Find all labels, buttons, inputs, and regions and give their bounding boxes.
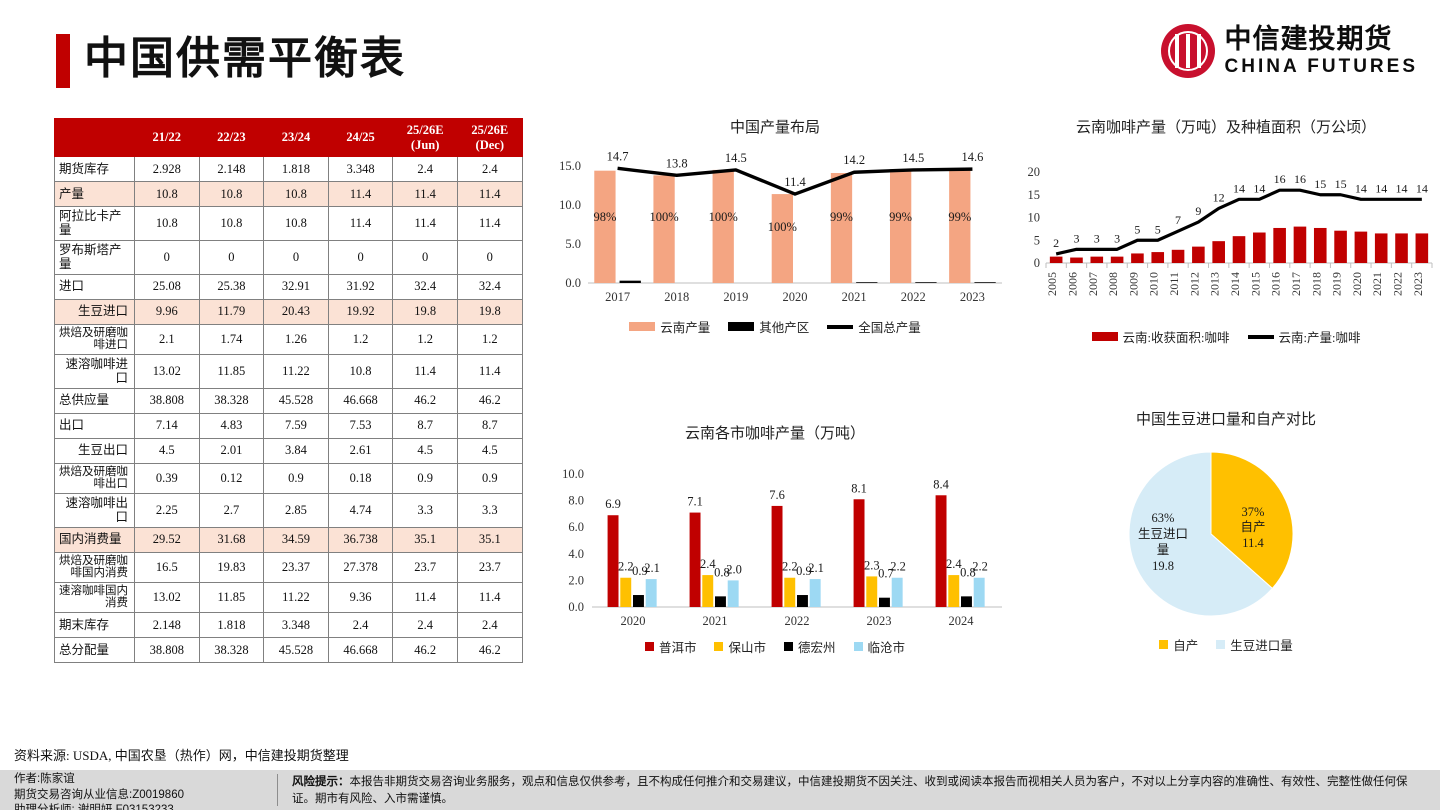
legend-item-imported: 生豆进口量 bbox=[1216, 635, 1293, 654]
legend-item-other-regions: 其他产区 bbox=[728, 317, 809, 336]
svg-text:2023: 2023 bbox=[1411, 272, 1425, 296]
table-cell: 46.2 bbox=[393, 388, 458, 413]
chart3-plot: 0.02.04.06.08.010.06.92.20.92.120207.12.… bbox=[536, 448, 1014, 633]
table-cell: 10.8 bbox=[135, 182, 200, 207]
svg-text:2008: 2008 bbox=[1106, 272, 1120, 296]
legend-swatch-icon bbox=[645, 642, 654, 651]
table-row: 速溶咖啡出口2.252.72.854.743.33.3 bbox=[55, 493, 523, 527]
company-logo: 中信建投期货 CHINA FUTURES bbox=[1161, 24, 1418, 78]
chart3-title: 云南各市咖啡产量（万吨） bbox=[536, 424, 1014, 444]
table-cell: 8.7 bbox=[457, 413, 522, 438]
table-cell: 7.14 bbox=[135, 413, 200, 438]
svg-text:14: 14 bbox=[1355, 182, 1367, 196]
row-label: 烘焙及研磨咖啡进口 bbox=[55, 324, 135, 354]
svg-text:2017: 2017 bbox=[1289, 272, 1303, 296]
col-header-4: 25/26E(Jun) bbox=[393, 119, 458, 157]
table-cell: 0.9 bbox=[393, 463, 458, 493]
svg-text:7: 7 bbox=[1175, 213, 1181, 227]
footer-bar: 作者:陈家谊 期货交易咨询从业信息:Z0019860 助理分析师: 谢明妍 F0… bbox=[0, 770, 1440, 810]
table-cell: 13.02 bbox=[135, 354, 200, 388]
table-cell: 31.68 bbox=[199, 527, 264, 552]
svg-text:4.0: 4.0 bbox=[568, 547, 584, 561]
table-cell: 19.92 bbox=[328, 299, 393, 324]
svg-text:2021: 2021 bbox=[1370, 272, 1384, 296]
svg-text:2009: 2009 bbox=[1126, 272, 1140, 296]
svg-text:2015: 2015 bbox=[1248, 272, 1262, 296]
row-label: 生豆出口 bbox=[55, 438, 135, 463]
table-cell: 11.4 bbox=[457, 207, 522, 241]
table-cell: 0 bbox=[328, 240, 393, 274]
svg-text:2021: 2021 bbox=[842, 290, 867, 304]
svg-text:10.0: 10.0 bbox=[562, 467, 584, 481]
legend-label: 保山市 bbox=[728, 637, 766, 656]
svg-text:量: 量 bbox=[1157, 543, 1170, 557]
table-cell: 29.52 bbox=[135, 527, 200, 552]
table-cell: 0 bbox=[135, 240, 200, 274]
table-row: 烘焙及研磨咖啡国内消费16.519.8323.3727.37823.723.7 bbox=[55, 552, 523, 582]
table-cell: 9.96 bbox=[135, 299, 200, 324]
table-cell: 0 bbox=[393, 240, 458, 274]
row-label: 罗布斯塔产量 bbox=[55, 240, 135, 274]
table-cell: 11.4 bbox=[457, 582, 522, 612]
svg-text:2022: 2022 bbox=[785, 614, 810, 628]
slide-page: 中国供需平衡表 中信建投期货 CHINA FUTURES 21/22 22/23… bbox=[0, 0, 1440, 810]
table-cell: 2.7 bbox=[199, 493, 264, 527]
svg-text:6.0: 6.0 bbox=[568, 520, 584, 534]
svg-text:14: 14 bbox=[1375, 182, 1387, 196]
svg-text:2.2: 2.2 bbox=[972, 560, 988, 574]
table-cell: 23.7 bbox=[393, 552, 458, 582]
svg-text:19.8: 19.8 bbox=[1152, 559, 1174, 573]
legend-label: 自产 bbox=[1173, 635, 1198, 654]
table-cell: 27.378 bbox=[328, 552, 393, 582]
table-cell: 1.2 bbox=[457, 324, 522, 354]
svg-text:20: 20 bbox=[1028, 165, 1041, 179]
svg-text:2018: 2018 bbox=[1309, 272, 1323, 296]
table-cell: 38.808 bbox=[135, 388, 200, 413]
table-cell: 3.348 bbox=[264, 613, 329, 638]
svg-text:100%: 100% bbox=[709, 210, 738, 224]
table-cell: 4.74 bbox=[328, 493, 393, 527]
svg-text:2024: 2024 bbox=[949, 614, 975, 628]
logo-chinese-name: 中信建投期货 bbox=[1225, 26, 1418, 53]
table-cell: 2.85 bbox=[264, 493, 329, 527]
chart2-legend: 云南:收获面积:咖啡 云南:产量:咖啡 bbox=[1016, 327, 1436, 346]
legend-swatch-icon bbox=[784, 642, 793, 651]
table-cell: 13.02 bbox=[135, 582, 200, 612]
row-label: 速溶咖啡国内消费 bbox=[55, 582, 135, 612]
svg-text:14: 14 bbox=[1396, 182, 1408, 196]
svg-text:11.4: 11.4 bbox=[784, 175, 806, 189]
chart4-svg: 37%自产11.463%生豆进口量19.8 bbox=[1016, 438, 1436, 633]
table-body: 期货库存2.9282.1481.8183.3482.42.4产量10.810.8… bbox=[55, 157, 523, 663]
table-cell: 19.8 bbox=[393, 299, 458, 324]
legend-item-harvest-area: 云南:收获面积:咖啡 bbox=[1092, 327, 1230, 346]
svg-text:15: 15 bbox=[1335, 177, 1347, 191]
legend-line-icon bbox=[827, 325, 853, 329]
legend-item-dehong: 德宏州 bbox=[784, 637, 836, 656]
svg-text:2023: 2023 bbox=[960, 290, 985, 304]
legend-swatch-icon bbox=[714, 642, 723, 651]
legend-swatch-icon bbox=[629, 322, 655, 331]
table-row: 总供应量38.80838.32845.52846.66846.246.2 bbox=[55, 388, 523, 413]
legend-item-lincang: 临沧市 bbox=[854, 637, 906, 656]
table-cell: 2.61 bbox=[328, 438, 393, 463]
svg-text:99%: 99% bbox=[948, 210, 971, 224]
table-cell: 31.92 bbox=[328, 274, 393, 299]
svg-text:自产: 自产 bbox=[1240, 520, 1265, 534]
page-title: 中国供需平衡表 bbox=[84, 30, 406, 88]
table-cell: 46.668 bbox=[328, 388, 393, 413]
svg-text:8.0: 8.0 bbox=[568, 494, 584, 508]
table-row: 速溶咖啡进口13.0211.8511.2210.811.411.4 bbox=[55, 354, 523, 388]
svg-text:99%: 99% bbox=[830, 210, 853, 224]
table-cell: 7.59 bbox=[264, 413, 329, 438]
table-cell: 36.738 bbox=[328, 527, 393, 552]
logo-text: 中信建投期货 CHINA FUTURES bbox=[1225, 26, 1418, 76]
table-cell: 3.84 bbox=[264, 438, 329, 463]
table-cell: 35.1 bbox=[457, 527, 522, 552]
supply-demand-table-wrap: 21/22 22/23 23/24 24/25 25/26E(Jun) 25/2… bbox=[54, 118, 522, 663]
table-cell: 0.9 bbox=[457, 463, 522, 493]
row-label: 速溶咖啡进口 bbox=[55, 354, 135, 388]
row-label: 国内消费量 bbox=[55, 527, 135, 552]
assistant-analyst: 助理分析师: 谢明妍 F03153233 bbox=[14, 803, 184, 810]
legend-label: 全国总产量 bbox=[858, 317, 921, 336]
svg-text:5: 5 bbox=[1134, 223, 1140, 237]
title-accent-bar bbox=[56, 34, 70, 88]
citic-logo-icon bbox=[1161, 24, 1215, 78]
table-head: 21/22 22/23 23/24 24/25 25/26E(Jun) 25/2… bbox=[55, 119, 523, 157]
svg-text:2023: 2023 bbox=[867, 614, 892, 628]
table-cell: 32.91 bbox=[264, 274, 329, 299]
table-cell: 19.83 bbox=[199, 552, 264, 582]
table-corner-cell bbox=[55, 119, 135, 157]
svg-text:8.4: 8.4 bbox=[933, 478, 949, 492]
col-header-2: 23/24 bbox=[264, 119, 329, 157]
table-cell: 46.2 bbox=[457, 388, 522, 413]
table-cell: 4.5 bbox=[393, 438, 458, 463]
svg-text:0: 0 bbox=[1034, 256, 1040, 270]
svg-text:2.1: 2.1 bbox=[644, 561, 660, 575]
table-cell: 4.5 bbox=[457, 438, 522, 463]
table-cell: 9.36 bbox=[328, 582, 393, 612]
table-cell: 20.43 bbox=[264, 299, 329, 324]
svg-text:2022: 2022 bbox=[901, 290, 926, 304]
legend-item-national-total: 全国总产量 bbox=[827, 317, 921, 336]
svg-text:63%: 63% bbox=[1152, 511, 1175, 525]
row-label: 阿拉比卡产量 bbox=[55, 207, 135, 241]
legend-line-icon bbox=[1248, 335, 1274, 339]
svg-text:2.2: 2.2 bbox=[890, 560, 906, 574]
table-cell: 32.4 bbox=[393, 274, 458, 299]
svg-text:9: 9 bbox=[1195, 204, 1201, 218]
svg-text:14.2: 14.2 bbox=[843, 153, 865, 167]
svg-text:2011: 2011 bbox=[1167, 272, 1181, 296]
svg-text:2021: 2021 bbox=[703, 614, 728, 628]
svg-text:2014: 2014 bbox=[1228, 272, 1242, 296]
table-cell: 11.22 bbox=[264, 354, 329, 388]
table-cell: 45.528 bbox=[264, 638, 329, 663]
table-row: 出口7.144.837.597.538.78.7 bbox=[55, 413, 523, 438]
table-cell: 11.79 bbox=[199, 299, 264, 324]
svg-text:10: 10 bbox=[1028, 211, 1041, 225]
legend-label: 临沧市 bbox=[868, 637, 906, 656]
table-cell: 32.4 bbox=[457, 274, 522, 299]
svg-text:2013: 2013 bbox=[1208, 272, 1222, 296]
source-note: 资料来源: USDA, 中国农垦（热作）网，中信建投期货整理 bbox=[14, 745, 349, 764]
table-cell: 1.74 bbox=[199, 324, 264, 354]
svg-text:2018: 2018 bbox=[664, 290, 689, 304]
table-cell: 0 bbox=[264, 240, 329, 274]
row-label: 生豆进口 bbox=[55, 299, 135, 324]
svg-text:5.0: 5.0 bbox=[565, 237, 581, 251]
table-cell: 23.37 bbox=[264, 552, 329, 582]
table-row: 生豆出口4.52.013.842.614.54.5 bbox=[55, 438, 523, 463]
svg-text:2: 2 bbox=[1053, 236, 1059, 250]
table-cell: 2.4 bbox=[328, 613, 393, 638]
table-cell: 1.818 bbox=[199, 613, 264, 638]
row-label: 烘焙及研磨咖啡出口 bbox=[55, 463, 135, 493]
svg-text:100%: 100% bbox=[649, 210, 678, 224]
table-cell: 2.4 bbox=[457, 157, 522, 182]
supply-demand-table: 21/22 22/23 23/24 24/25 25/26E(Jun) 25/2… bbox=[54, 118, 523, 663]
table-row: 罗布斯塔产量000000 bbox=[55, 240, 523, 274]
table-cell: 0 bbox=[199, 240, 264, 274]
legend-label: 德宏州 bbox=[798, 637, 836, 656]
table-row: 产量10.810.810.811.411.411.4 bbox=[55, 182, 523, 207]
chart4-title: 中国生豆进口量和自产对比 bbox=[1016, 410, 1436, 430]
legend-item-yunnan-output: 云南产量 bbox=[629, 317, 710, 336]
row-label: 产量 bbox=[55, 182, 135, 207]
table-cell: 38.328 bbox=[199, 388, 264, 413]
table-cell: 2.148 bbox=[135, 613, 200, 638]
author-name: 作者:陈家谊 bbox=[14, 772, 184, 788]
footer-divider bbox=[277, 774, 278, 806]
table-cell: 2.4 bbox=[393, 613, 458, 638]
table-cell: 16.5 bbox=[135, 552, 200, 582]
table-cell: 0.39 bbox=[135, 463, 200, 493]
svg-text:100%: 100% bbox=[768, 220, 797, 234]
table-cell: 2.4 bbox=[393, 157, 458, 182]
table-cell: 1.26 bbox=[264, 324, 329, 354]
legend-swatch-icon bbox=[1159, 640, 1168, 649]
row-label: 期货库存 bbox=[55, 157, 135, 182]
table-cell: 38.328 bbox=[199, 638, 264, 663]
table-cell: 11.85 bbox=[199, 354, 264, 388]
chart1-legend: 云南产量 其他产区 全国总产量 bbox=[536, 317, 1014, 336]
svg-text:3: 3 bbox=[1094, 232, 1100, 246]
row-label: 总分配量 bbox=[55, 638, 135, 663]
table-cell: 0.18 bbox=[328, 463, 393, 493]
risk-label: 风险提示： bbox=[292, 776, 350, 788]
table-cell: 2.928 bbox=[135, 157, 200, 182]
chart-china-production-layout: 中国产量布局 0.05.010.015.098%2017100%2018100%… bbox=[536, 118, 1014, 353]
table-cell: 3.3 bbox=[457, 493, 522, 527]
legend-label: 云南产量 bbox=[660, 317, 710, 336]
svg-text:2012: 2012 bbox=[1187, 272, 1201, 296]
chart3-legend: 普洱市 保山市 德宏州 临沧市 bbox=[536, 637, 1014, 656]
table-cell: 10.8 bbox=[328, 354, 393, 388]
svg-text:14: 14 bbox=[1416, 182, 1428, 196]
svg-text:14.6: 14.6 bbox=[961, 150, 983, 164]
table-cell: 1.2 bbox=[393, 324, 458, 354]
svg-text:16: 16 bbox=[1294, 172, 1306, 186]
chart1-svg: 0.05.010.015.098%2017100%2018100%2019100… bbox=[536, 138, 1014, 313]
table-row: 阿拉比卡产量10.810.810.811.411.411.4 bbox=[55, 207, 523, 241]
table-cell: 0 bbox=[457, 240, 522, 274]
table-cell: 46.668 bbox=[328, 638, 393, 663]
svg-text:2006: 2006 bbox=[1065, 272, 1079, 296]
col-header-0: 21/22 bbox=[135, 119, 200, 157]
table-row: 速溶咖啡国内消费13.0211.8511.229.3611.411.4 bbox=[55, 582, 523, 612]
table-row: 烘焙及研磨咖啡出口0.390.120.90.180.90.9 bbox=[55, 463, 523, 493]
svg-text:2.0: 2.0 bbox=[568, 574, 584, 588]
row-label: 进口 bbox=[55, 274, 135, 299]
table-cell: 34.59 bbox=[264, 527, 329, 552]
svg-text:5: 5 bbox=[1155, 223, 1161, 237]
table-cell: 2.148 bbox=[199, 157, 264, 182]
col-header-3: 24/25 bbox=[328, 119, 393, 157]
table-row: 生豆进口9.9611.7920.4319.9219.819.8 bbox=[55, 299, 523, 324]
row-label: 期末库存 bbox=[55, 613, 135, 638]
chart2-title: 云南咖啡产量（万吨）及种植面积（万公顷） bbox=[1016, 118, 1436, 138]
table-cell: 11.85 bbox=[199, 582, 264, 612]
legend-label: 普洱市 bbox=[659, 637, 697, 656]
author-block: 作者:陈家谊 期货交易咨询从业信息:Z0019860 助理分析师: 谢明妍 F0… bbox=[14, 772, 184, 810]
svg-text:2.1: 2.1 bbox=[808, 561, 824, 575]
table-cell: 35.1 bbox=[393, 527, 458, 552]
table-cell: 45.528 bbox=[264, 388, 329, 413]
svg-text:5: 5 bbox=[1034, 234, 1040, 248]
svg-text:2019: 2019 bbox=[723, 290, 748, 304]
table-cell: 11.4 bbox=[457, 354, 522, 388]
svg-text:0.0: 0.0 bbox=[568, 600, 584, 614]
legend-label: 其他产区 bbox=[759, 317, 809, 336]
svg-text:13.8: 13.8 bbox=[666, 157, 688, 171]
table-cell: 11.4 bbox=[393, 354, 458, 388]
table-cell: 19.8 bbox=[457, 299, 522, 324]
svg-text:14.5: 14.5 bbox=[725, 151, 747, 165]
table-cell: 25.08 bbox=[135, 274, 200, 299]
table-row: 期货库存2.9282.1481.8183.3482.42.4 bbox=[55, 157, 523, 182]
table-cell: 3.348 bbox=[328, 157, 393, 182]
table-cell: 46.2 bbox=[457, 638, 522, 663]
table-row: 总分配量38.80838.32845.52846.66846.246.2 bbox=[55, 638, 523, 663]
svg-text:2007: 2007 bbox=[1086, 272, 1100, 296]
svg-text:3: 3 bbox=[1073, 232, 1079, 246]
legend-label: 生豆进口量 bbox=[1230, 635, 1293, 654]
svg-text:2020: 2020 bbox=[783, 290, 808, 304]
chart4-legend: 自产 生豆进口量 bbox=[1016, 635, 1436, 654]
svg-text:14: 14 bbox=[1253, 182, 1265, 196]
svg-text:7.6: 7.6 bbox=[769, 488, 785, 502]
svg-text:15: 15 bbox=[1028, 188, 1041, 202]
chart1-title: 中国产量布局 bbox=[536, 118, 1014, 138]
svg-text:2010: 2010 bbox=[1147, 272, 1161, 296]
table-cell: 0.9 bbox=[264, 463, 329, 493]
legend-swatch-icon bbox=[1216, 640, 1225, 649]
legend-item-puer: 普洱市 bbox=[645, 637, 697, 656]
table-cell: 2.01 bbox=[199, 438, 264, 463]
svg-text:2005: 2005 bbox=[1045, 272, 1059, 296]
legend-item-domestic: 自产 bbox=[1159, 635, 1198, 654]
svg-text:14: 14 bbox=[1233, 182, 1245, 196]
svg-text:14.5: 14.5 bbox=[902, 151, 924, 165]
row-label: 出口 bbox=[55, 413, 135, 438]
svg-text:2.0: 2.0 bbox=[726, 563, 742, 577]
legend-label: 云南:产量:咖啡 bbox=[1279, 327, 1361, 346]
svg-text:2020: 2020 bbox=[621, 614, 646, 628]
table-cell: 1.2 bbox=[328, 324, 393, 354]
svg-text:2022: 2022 bbox=[1391, 272, 1405, 296]
table-cell: 2.1 bbox=[135, 324, 200, 354]
svg-text:2017: 2017 bbox=[605, 290, 630, 304]
table-cell: 11.4 bbox=[328, 182, 393, 207]
svg-text:0.0: 0.0 bbox=[565, 276, 581, 290]
svg-text:7.1: 7.1 bbox=[687, 495, 703, 509]
table-cell: 11.4 bbox=[393, 207, 458, 241]
col-header-5: 25/26E(Dec) bbox=[457, 119, 522, 157]
svg-text:2016: 2016 bbox=[1269, 272, 1283, 296]
svg-text:10.0: 10.0 bbox=[559, 198, 581, 212]
table-header-row: 21/22 22/23 23/24 24/25 25/26E(Jun) 25/2… bbox=[55, 119, 523, 157]
table-cell: 4.5 bbox=[135, 438, 200, 463]
table-row: 期末库存2.1481.8183.3482.42.42.4 bbox=[55, 613, 523, 638]
svg-text:16: 16 bbox=[1274, 172, 1286, 186]
legend-item-baoshan: 保山市 bbox=[714, 637, 766, 656]
table-cell: 11.22 bbox=[264, 582, 329, 612]
svg-text:12: 12 bbox=[1213, 191, 1225, 205]
chart2-svg: 0510152023335579121414161615151414141420… bbox=[1016, 140, 1436, 325]
table-cell: 2.25 bbox=[135, 493, 200, 527]
table-cell: 10.8 bbox=[264, 207, 329, 241]
legend-item-yunnan-output: 云南:产量:咖啡 bbox=[1248, 327, 1361, 346]
table-cell: 11.4 bbox=[393, 182, 458, 207]
table-cell: 38.808 bbox=[135, 638, 200, 663]
svg-text:2019: 2019 bbox=[1330, 272, 1344, 296]
table-row: 国内消费量29.5231.6834.5936.73835.135.1 bbox=[55, 527, 523, 552]
chart4-plot: 37%自产11.463%生豆进口量19.8 bbox=[1016, 438, 1436, 633]
table-cell: 25.38 bbox=[199, 274, 264, 299]
table-cell: 2.4 bbox=[457, 613, 522, 638]
legend-swatch-icon bbox=[728, 322, 754, 331]
table-cell: 11.4 bbox=[328, 207, 393, 241]
table-cell: 4.83 bbox=[199, 413, 264, 438]
svg-text:2020: 2020 bbox=[1350, 272, 1364, 296]
chart-yunnan-city-output: 云南各市咖啡产量（万吨） 0.02.04.06.08.010.06.92.20.… bbox=[536, 424, 1014, 659]
table-row: 烘焙及研磨咖啡进口2.11.741.261.21.21.2 bbox=[55, 324, 523, 354]
table-cell: 7.53 bbox=[328, 413, 393, 438]
chart3-svg: 0.02.04.06.08.010.06.92.20.92.120207.12.… bbox=[536, 448, 1014, 633]
svg-text:15.0: 15.0 bbox=[559, 159, 581, 173]
svg-text:37%: 37% bbox=[1242, 505, 1265, 519]
row-label: 烘焙及研磨咖啡国内消费 bbox=[55, 552, 135, 582]
row-label: 总供应量 bbox=[55, 388, 135, 413]
col-header-1: 22/23 bbox=[199, 119, 264, 157]
svg-text:15: 15 bbox=[1314, 177, 1326, 191]
chart1-plot: 0.05.010.015.098%2017100%2018100%2019100… bbox=[536, 138, 1014, 313]
chart-import-vs-domestic-pie: 中国生豆进口量和自产对比 37%自产11.463%生豆进口量19.8 自产 生豆… bbox=[1016, 410, 1436, 670]
svg-text:11.4: 11.4 bbox=[1242, 536, 1264, 550]
chart2-plot: 0510152023335579121414161615151414141420… bbox=[1016, 140, 1436, 325]
legend-swatch-icon bbox=[1092, 332, 1118, 341]
table-cell: 10.8 bbox=[199, 207, 264, 241]
svg-text:14.7: 14.7 bbox=[607, 150, 629, 164]
author-license: 期货交易咨询从业信息:Z0019860 bbox=[14, 788, 184, 804]
table-cell: 10.8 bbox=[199, 182, 264, 207]
table-cell: 10.8 bbox=[135, 207, 200, 241]
